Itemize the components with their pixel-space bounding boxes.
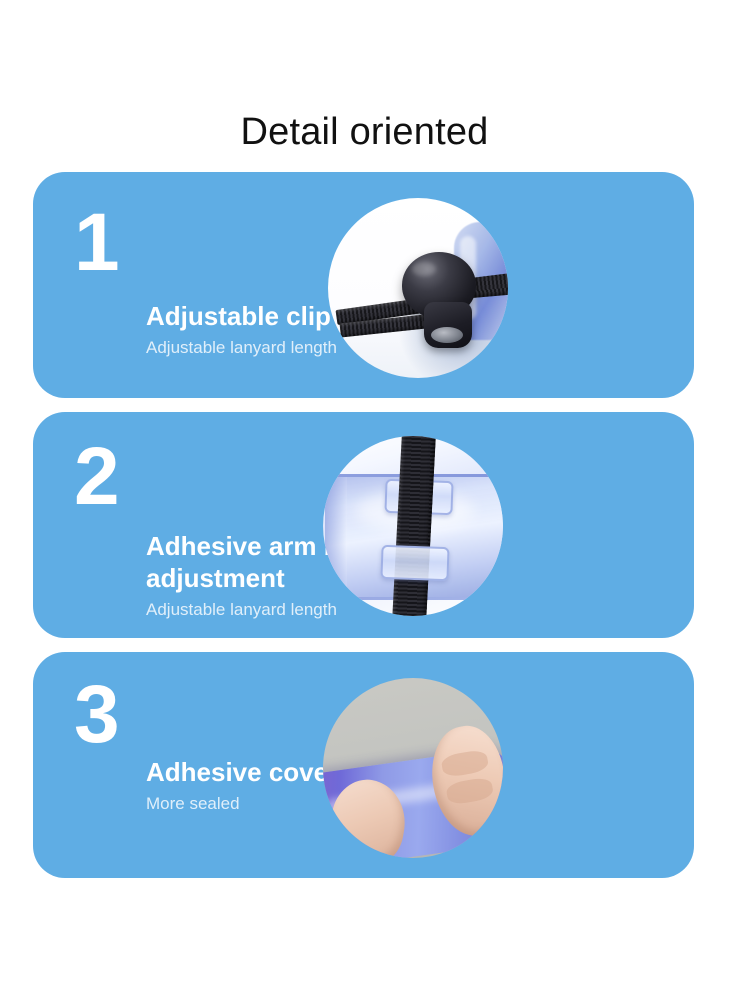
feature-card-list: 1 Adjustable clip Adjustable lanyard len… — [33, 172, 694, 892]
pvc-loop-bottom — [380, 545, 449, 581]
feature-card-1[interactable]: 1 Adjustable clip Adjustable lanyard len… — [33, 172, 694, 398]
feature-card-3[interactable]: 3 Adhesive cover design More sealed — [33, 652, 694, 878]
card-number-2: 2 — [74, 436, 119, 518]
card-number-1: 1 — [74, 202, 119, 284]
velcro-arm-belt-photo — [323, 436, 503, 616]
feature-card-2[interactable]: 2 Adhesive arm belt adjustment Adjustabl… — [33, 412, 694, 638]
toggle-barrel-button — [424, 302, 472, 348]
cover-photo-scene — [323, 678, 503, 858]
card-number-3: 3 — [74, 674, 119, 756]
page-title: Detail oriented — [0, 109, 729, 155]
cord-lock-toggle-clip-photo — [328, 198, 508, 378]
adhesive-cover-hands-photo — [323, 678, 503, 858]
clip-photo-scene — [328, 198, 508, 378]
belt-photo-scene — [323, 436, 503, 616]
